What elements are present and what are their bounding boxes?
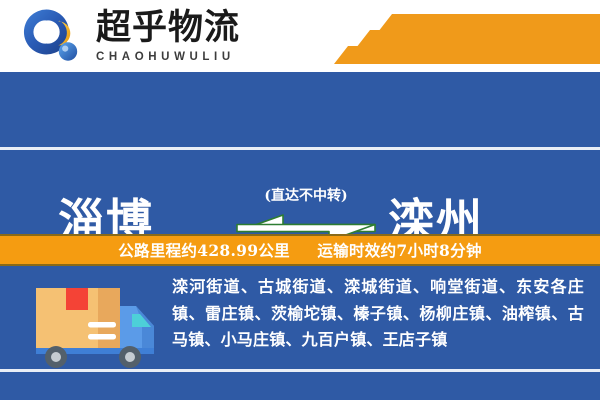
route-band: 淄博 (直达不中转) 【往返运输】 滦州: [0, 75, 600, 230]
logistics-route-poster: 超乎物流 CHAOHUWULIU 淄博 (直达不中转) 【往返运输】 滦州: [0, 0, 600, 400]
band-divider: [0, 147, 600, 150]
poster-header: 超乎物流 CHAOHUWULIU: [0, 0, 600, 72]
brand-name-en: CHAOHUWULIU: [96, 50, 276, 64]
route-stats-text: 公路里程约428.99公里 运输时效约7小时8分钟: [118, 239, 482, 261]
distance-label: 公路里程约428.99公里: [118, 241, 290, 260]
circular-q-logo-icon: [22, 8, 84, 66]
duration-label: 运输时效约7小时8分钟: [317, 241, 481, 260]
coverage-section: 滦河街道、古城街道、滦城街道、响堂街道、东安各庄镇、雷庄镇、茨榆坨镇、榛子镇、杨…: [0, 266, 600, 400]
brand-name-cn: 超乎物流: [96, 9, 276, 47]
direct-shipping-note: (直达不中转): [232, 187, 380, 205]
speed-stripes-icon: [328, 4, 600, 68]
bottom-divider: [0, 369, 600, 372]
brand-block: 超乎物流 CHAOHUWULIU: [96, 9, 276, 64]
route-stats-bar: 公路里程约428.99公里 运输时效约7小时8分钟: [0, 234, 600, 266]
delivery-truck-icon: [26, 278, 166, 370]
coverage-areas-text: 滦河街道、古城街道、滦城街道、响堂街道、东安各庄镇、雷庄镇、茨榆坨镇、榛子镇、杨…: [172, 274, 584, 354]
